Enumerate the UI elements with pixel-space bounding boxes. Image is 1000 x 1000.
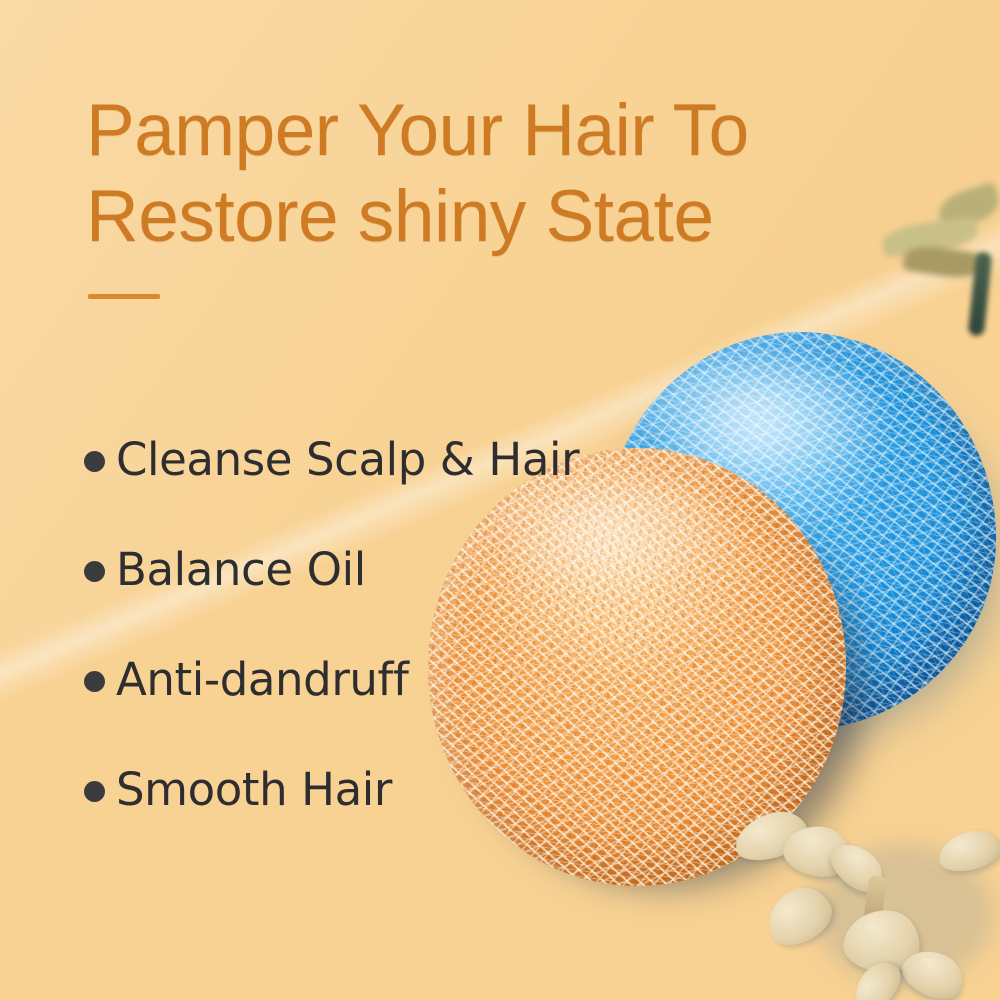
benefit-label: Balance Oil [116,547,366,592]
list-item: Cleanse Scalp & Hair [84,404,644,514]
page-title: Pamper Your Hair To Restore shiny State [86,88,906,260]
accent-rule [88,294,160,299]
benefit-label: Anti-dandruff [116,657,408,702]
leaf-shape [902,242,983,282]
benefit-label: Cleanse Scalp & Hair [116,437,579,482]
list-item: Smooth Hair [84,734,644,844]
product-banner: Pamper Your Hair To Restore shiny State … [0,0,1000,1000]
bullet-dot-icon [84,671,105,692]
bullet-dot-icon [84,561,105,582]
dried-jasmine-buds [726,792,1000,1000]
benefits-list: Cleanse Scalp & Hair Balance Oil Anti-da… [84,404,644,844]
bullet-dot-icon [84,781,105,802]
list-item: Anti-dandruff [84,624,644,734]
list-item: Balance Oil [84,514,644,624]
bullet-dot-icon [84,451,105,472]
benefit-label: Smooth Hair [116,767,392,812]
